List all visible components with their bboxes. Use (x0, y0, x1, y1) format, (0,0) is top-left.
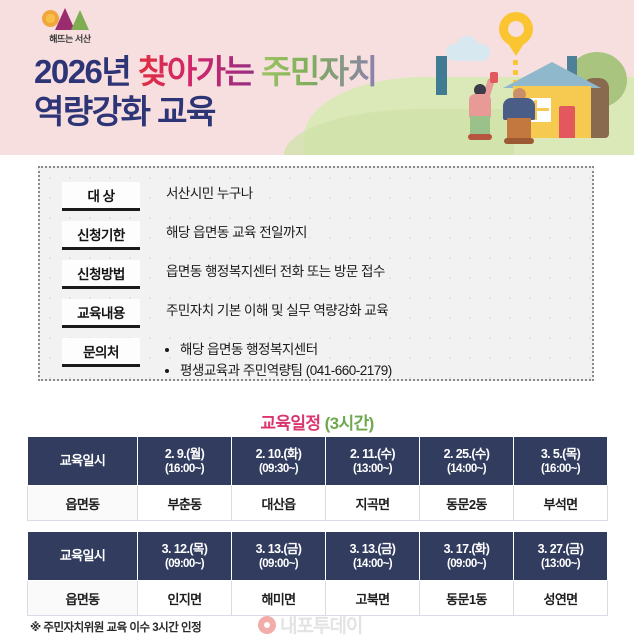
date-text: 3. 13.(금) (256, 542, 302, 556)
phone-icon (490, 72, 498, 83)
contact-list: 해당 읍면동 행정복지센터 평생교육과 주민역량팀 (041-660-2179) (166, 340, 392, 382)
table-cell-place: 성연면 (514, 581, 608, 616)
info-row-method: 신청방법 읍면동 행정복지센터 전화 또는 방문 접수 (62, 260, 385, 289)
time-text: (09:00~) (420, 557, 513, 572)
info-value: 서산시민 누구나 (166, 182, 253, 204)
table-row: 교육일시 3. 12.(목)(09:00~) 3. 13.(금)(09:00~)… (28, 532, 608, 581)
person-feet (468, 134, 492, 140)
row-label-date: 교육일시 (28, 532, 138, 581)
person2-body (503, 98, 535, 120)
poster-title: 2026년 찾아가는 주민자치 역량강화 교육 (34, 52, 377, 133)
table-cell-date: 3. 12.(목)(09:00~) (138, 532, 232, 581)
time-text: (16:00~) (514, 462, 607, 477)
poster-root: 해뜨는 서산 2026년 찾아가는 주민자치 역량강화 교육 (0, 0, 634, 641)
table-cell-date: 3. 13.(금)(09:00~) (232, 532, 326, 581)
poster-header: 해뜨는 서산 2026년 찾아가는 주민자치 역량강화 교육 (0, 0, 634, 155)
seosan-logo: 해뜨는 서산 (30, 8, 110, 50)
table-cell-date: 2. 25.(수)(14:00~) (420, 437, 514, 486)
time-text: (13:00~) (514, 557, 607, 572)
title-autonomy: 주민자치 (261, 53, 376, 90)
info-value: 해당 읍면동 교육 전일까지 (166, 221, 307, 243)
title-line-2: 역량강화 교육 (34, 92, 377, 132)
info-value: 주민자치 기본 이해 및 실무 역량강화 교육 (166, 299, 388, 321)
decor-block (436, 56, 447, 95)
table-cell-date: 2. 11.(수)(13:00~) (326, 437, 420, 486)
info-row-deadline: 신청기한 해당 읍면동 교육 전일까지 (62, 221, 307, 250)
time-text: (09:00~) (232, 557, 325, 572)
schedule-title-sub: (3시간) (325, 414, 374, 433)
table-cell-place: 부춘동 (138, 486, 232, 521)
time-text: (09:30~) (232, 462, 325, 477)
logo-text: 해뜨는 서산 (30, 32, 110, 45)
person2-feet (504, 138, 534, 144)
table-cell-date: 2. 10.(화)(09:30~) (232, 437, 326, 486)
date-text: 2. 11.(수) (350, 447, 395, 461)
list-item: 해당 읍면동 행정복지센터 (180, 340, 392, 361)
table-cell-place: 인지면 (138, 581, 232, 616)
row-label-date: 교육일시 (28, 437, 138, 486)
logo-mark-icon (42, 8, 98, 30)
header-illustration (455, 8, 630, 155)
table-spacer-row (28, 521, 608, 532)
table-cell-place: 부석면 (514, 486, 608, 521)
date-text: 3. 5.(목) (541, 447, 580, 461)
footer-note: ※ 주민자치위원 교육 이수 3시간 인정 (30, 619, 201, 635)
time-text: (13:00~) (326, 462, 419, 477)
date-text: 2. 25.(수) (444, 447, 490, 461)
schedule-title: 교육일정 (3시간) (0, 409, 634, 434)
table-cell-place: 동문2동 (420, 486, 514, 521)
table-cell-date: 3. 27.(금)(13:00~) (514, 532, 608, 581)
info-label: 대 상 (62, 182, 140, 211)
date-text: 3. 27.(금) (538, 542, 584, 556)
time-text: (14:00~) (326, 557, 419, 572)
title-line-1: 2026년 찾아가는 주민자치 (34, 52, 377, 92)
table-cell-place: 대산읍 (232, 486, 326, 521)
table-row: 교육일시 2. 9.(월)(16:00~) 2. 10.(화)(09:30~) … (28, 437, 608, 486)
spacer (28, 521, 608, 532)
table-cell-date: 3. 5.(목)(16:00~) (514, 437, 608, 486)
map-pin-tip-icon (505, 39, 527, 56)
info-label: 신청방법 (62, 260, 140, 289)
watermark-text: 내포투데이 (280, 611, 362, 638)
logo-triangle-green-icon (71, 10, 89, 30)
date-text: 3. 17.(화) (444, 542, 490, 556)
table-row: 읍면동 부춘동 대산읍 지곡면 동문2동 부석면 (28, 486, 608, 521)
house-roof-icon (503, 62, 601, 88)
info-panel: 대 상 서산시민 누구나 신청기한 해당 읍면동 교육 전일까지 신청방법 읍면… (38, 166, 594, 381)
schedule-table-wrap: 교육일시 2. 9.(월)(16:00~) 2. 10.(화)(09:30~) … (27, 436, 607, 616)
info-row-target: 대 상 서산시민 누구나 (62, 182, 253, 211)
table-cell-date: 2. 9.(월)(16:00~) (138, 437, 232, 486)
table-cell-date: 3. 13.(금)(14:00~) (326, 532, 420, 581)
info-row-content: 교육내용 주민자치 기본 이해 및 실무 역량강화 교육 (62, 299, 388, 328)
title-year: 2026년 (34, 53, 138, 90)
info-value: 읍면동 행정복지센터 전화 또는 방문 접수 (166, 260, 385, 282)
watermark: 내포투데이 (258, 611, 362, 638)
info-label: 신청기한 (62, 221, 140, 250)
date-text: 3. 13.(금) (350, 542, 396, 556)
schedule-title-main: 교육일정 (260, 414, 320, 433)
date-text: 2. 10.(화) (256, 447, 302, 461)
info-row-contact: 문의처 해당 읍면동 행정복지센터 평생교육과 주민역량팀 (041-660-2… (62, 338, 392, 382)
title-visiting: 찾아가는 (138, 53, 261, 90)
schedule-table: 교육일시 2. 9.(월)(16:00~) 2. 10.(화)(09:30~) … (27, 436, 608, 616)
date-text: 2. 9.(월) (165, 447, 204, 461)
door-icon (559, 106, 575, 138)
list-item: 평생교육과 주민역량팀 (041-660-2179) (180, 361, 392, 382)
date-text: 3. 12.(목) (162, 542, 208, 556)
info-value: 해당 읍면동 행정복지센터 평생교육과 주민역량팀 (041-660-2179) (166, 338, 392, 382)
time-text: (16:00~) (138, 462, 231, 477)
row-label-place: 읍면동 (28, 581, 138, 616)
info-label: 문의처 (62, 338, 140, 367)
table-cell-place: 지곡면 (326, 486, 420, 521)
person-legs (470, 116, 490, 136)
row-label-place: 읍면동 (28, 486, 138, 521)
table-cell-place: 동문1동 (420, 581, 514, 616)
info-label: 교육내용 (62, 299, 140, 328)
watermark-dot-icon (258, 616, 276, 634)
table-cell-date: 3. 17.(화)(09:00~) (420, 532, 514, 581)
person-body (469, 94, 491, 118)
time-text: (14:00~) (420, 462, 513, 477)
time-text: (09:00~) (138, 557, 231, 572)
